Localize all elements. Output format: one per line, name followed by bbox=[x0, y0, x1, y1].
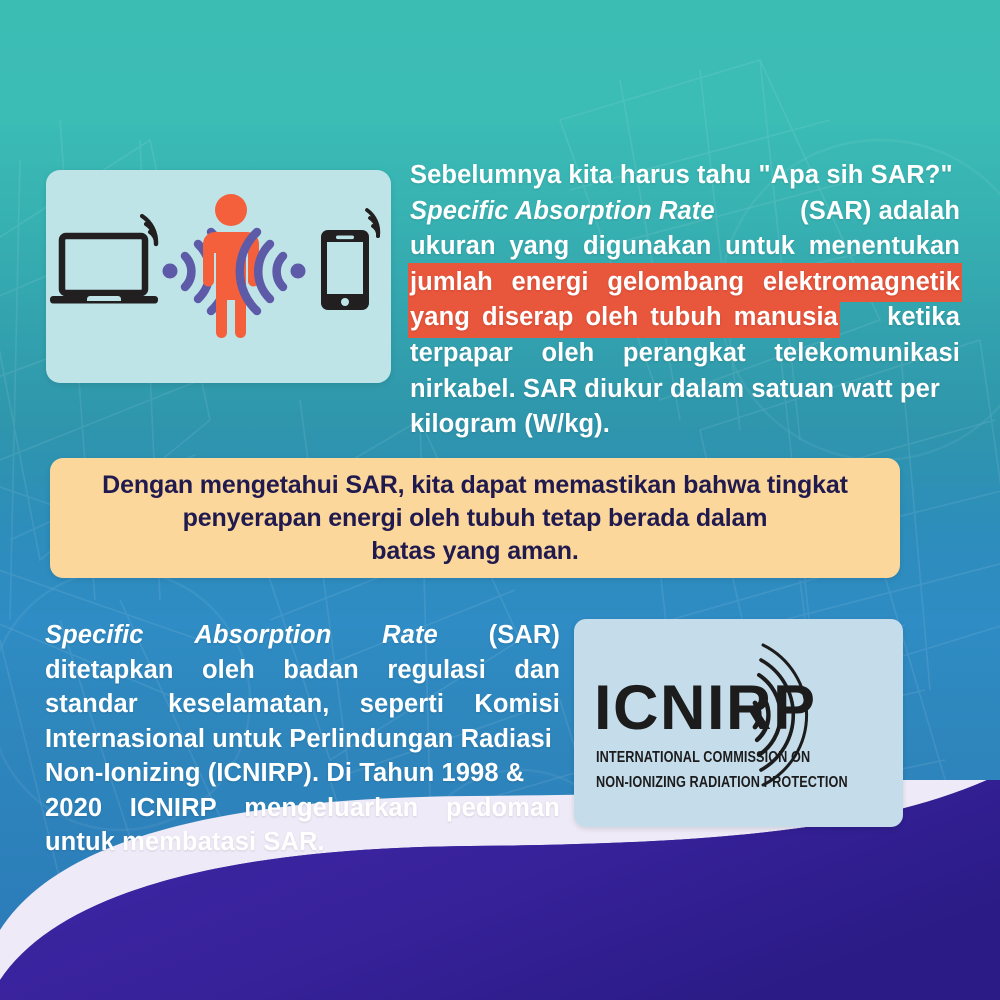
para-top-highlight-line-1: jumlah energi gelombang elektromagnetik bbox=[410, 265, 960, 301]
word: menentukan bbox=[809, 229, 960, 265]
word: pedoman bbox=[446, 791, 560, 826]
infographic-poster: Sebelumnya kita harus tahu "Apa sih SAR?… bbox=[0, 0, 1000, 1000]
para-top-line-1: Sebelumnya kita harus tahu "Apa sih SAR?… bbox=[410, 158, 960, 194]
word: ketika bbox=[887, 300, 960, 336]
word: yang bbox=[410, 300, 470, 336]
word: energi bbox=[511, 265, 588, 301]
para-bottom-line-4: Internasional untuk Perlindungan Radiasi bbox=[45, 722, 560, 757]
word: Specific bbox=[45, 618, 144, 653]
para-bottom-line-3: standar keselamatan, seperti Komisi bbox=[45, 687, 560, 722]
human-figure-icon bbox=[203, 194, 259, 338]
para-top-line-2: Specific Absorption Rate (SAR) adalah bbox=[410, 194, 960, 230]
para-bottom-line-2: ditetapkan oleh badan regulasi dan bbox=[45, 653, 560, 688]
icnirp-logo-card: ICNIRP INTERNATIONAL COMMISSION ON NON-I… bbox=[574, 619, 903, 827]
word: (SAR) bbox=[489, 618, 560, 653]
icnirp-subtitle-line-2: NON-IONIZING RADIATION PROTECTION bbox=[596, 774, 848, 792]
paragraph-top: Sebelumnya kita harus tahu "Apa sih SAR?… bbox=[410, 158, 960, 443]
word: jumlah bbox=[410, 265, 493, 301]
para-top-line-7: nirkabel. SAR diukur dalam satuan watt p… bbox=[410, 372, 960, 408]
icnirp-wordmark: ICNIRP bbox=[594, 677, 817, 740]
word: oleh bbox=[541, 336, 594, 372]
word: manusia bbox=[734, 300, 838, 336]
word: badan bbox=[283, 653, 359, 688]
word: dan bbox=[514, 653, 560, 688]
word: elektromagnetik bbox=[763, 265, 960, 301]
word: yang bbox=[509, 229, 569, 265]
highlight-span: yang diserap oleh tubuh manusia bbox=[410, 300, 838, 336]
word: Absorption bbox=[194, 618, 331, 653]
para-bottom-line-5: Non-Ionizing (ICNIRP). Di Tahun 1998 & bbox=[45, 756, 560, 791]
illustration-card bbox=[46, 170, 391, 383]
smartphone-icon bbox=[321, 210, 378, 310]
word: regulasi bbox=[387, 653, 486, 688]
word: keselamatan, bbox=[168, 687, 329, 722]
word: oleh bbox=[586, 300, 639, 336]
word: telekomunikasi bbox=[774, 336, 960, 372]
word: Komisi bbox=[474, 687, 560, 722]
para-bottom-line-6: 2020 ICNIRP mengeluarkan pedoman bbox=[45, 791, 560, 826]
para-bottom-line-7: untuk membatasi SAR. bbox=[45, 825, 560, 860]
para-top-line-8: kilogram (W/kg). bbox=[410, 407, 960, 443]
word: diserap bbox=[482, 300, 573, 336]
icnirp-subtitle-line-1: INTERNATIONAL COMMISSION ON bbox=[596, 749, 810, 767]
para-top-line-3: ukuran yang digunakan untuk menentukan bbox=[410, 229, 960, 265]
word: oleh bbox=[202, 653, 255, 688]
word: digunakan bbox=[583, 229, 711, 265]
word: untuk bbox=[725, 229, 795, 265]
para-top-line-6: terpapar oleh perangkat telekomunikasi bbox=[410, 336, 960, 372]
word: standar bbox=[45, 687, 138, 722]
paragraph-bottom: Specific Absorption Rate (SAR) ditetapka… bbox=[45, 618, 560, 860]
word: ICNIRP bbox=[130, 791, 217, 826]
para-bottom-line-1: Specific Absorption Rate (SAR) bbox=[45, 618, 560, 653]
para-top-italic-term: Specific Absorption Rate bbox=[410, 194, 715, 230]
callout-line-2: penyerapan energi oleh tubuh tetap berad… bbox=[183, 502, 768, 535]
word: Rate bbox=[382, 618, 438, 653]
word: ukuran bbox=[410, 229, 496, 265]
word: 2020 bbox=[45, 791, 102, 826]
word: seperti bbox=[360, 687, 444, 722]
para-top-line-2-rest: (SAR) adalah bbox=[800, 194, 960, 230]
word: perangkat bbox=[623, 336, 746, 372]
para-top-highlight-line-2: yang diserap oleh tubuh manusia ketika bbox=[410, 300, 960, 336]
word: tubuh bbox=[650, 300, 721, 336]
callout-line-1: Dengan mengetahui SAR, kita dapat memast… bbox=[102, 469, 848, 502]
word: terpapar bbox=[410, 336, 513, 372]
word: mengeluarkan bbox=[244, 791, 418, 826]
laptop-icon bbox=[50, 216, 158, 304]
callout-line-3: batas yang aman. bbox=[371, 535, 578, 568]
word: ditetapkan bbox=[45, 653, 174, 688]
word: gelombang bbox=[607, 265, 744, 301]
callout-box: Dengan mengetahui SAR, kita dapat memast… bbox=[50, 458, 900, 578]
